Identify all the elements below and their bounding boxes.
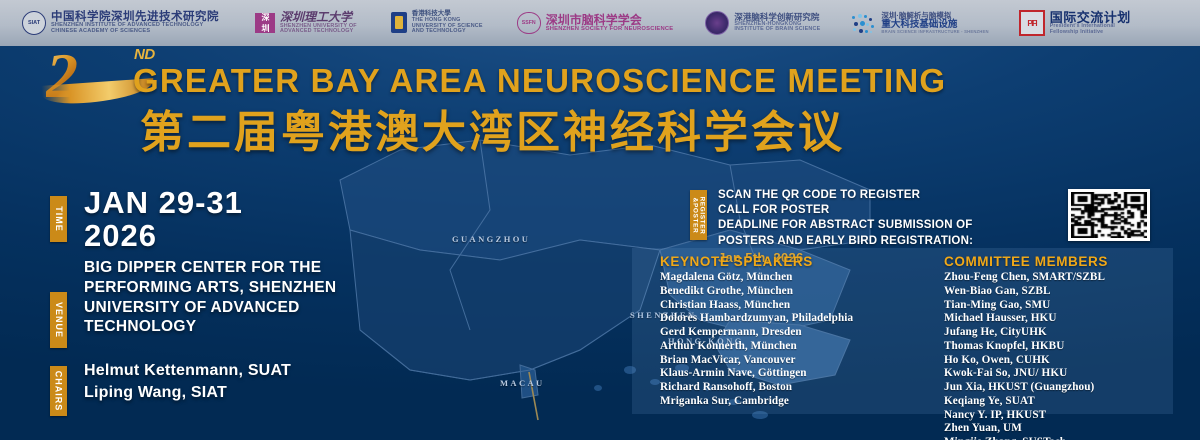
logo-en-name: SHENZHEN-HONGKONG INSTITUTE OF BRAIN SCI…: [734, 22, 820, 33]
committee-item: Tian-Ming Gao, SMU: [944, 299, 1108, 313]
committee-members-list: Zhou-Feng Chen, SMART/SZBLWen-Biao Gan, …: [944, 271, 1108, 440]
page-title-cn: 第二届粤港澳大湾区神经科学会议: [140, 96, 845, 160]
committee-item: Mingjie Zhang, SUSTech: [944, 436, 1108, 440]
square-seal-icon: 深圳: [255, 13, 275, 33]
conference-poster: SIAT 中国科学院深圳先进技术研究院 SHENZHEN INSTITUTE O…: [0, 0, 1200, 440]
venue-tab: VENUE: [50, 292, 67, 348]
speaker-item: Brian MacVicar, Vancouver: [660, 354, 853, 368]
logo-suat: 深圳 深圳理工大学 SHENZHEN UNIVERSITY OF ADVANCE…: [255, 11, 357, 35]
ordinal-suffix: ND: [134, 46, 155, 63]
event-venue: BIG DIPPER CENTER FOR THE PERFORMING ART…: [84, 258, 464, 337]
speaker-item: Benedikt Grothe, München: [660, 285, 853, 299]
keynote-speakers-section: KEYNOTE SPEAKERS Magdalena Götz, München…: [660, 254, 853, 409]
speaker-item: Christian Haass, München: [660, 299, 853, 313]
logo-en-name: SHENZHEN UNIVERSITY OF ADVANCED TECHNOLO…: [280, 24, 357, 35]
speaker-item: Arthur Konnerth, München: [660, 340, 853, 354]
chairs-tab-label: CHAIRS: [54, 371, 64, 412]
dot-cluster-icon: [850, 12, 876, 34]
logo-cn-name: 国际交流计划: [1050, 11, 1131, 25]
committee-item: Keqiang Ye, SUAT: [944, 395, 1108, 409]
committee-item: Ho Ko, Owen, CUHK: [944, 354, 1108, 368]
logo-en-name: SHENZHEN INSTITUTE OF ADVANCED TECHNOLOG…: [51, 23, 219, 35]
logo-hkust: 香港科技大學 THE HONG KONG UNIVERSITY OF SCIEN…: [391, 11, 483, 35]
time-tab-label: TIME: [54, 206, 64, 232]
page-title-en: GREATER BAY AREA NEUROSCIENCE MEETING: [133, 62, 946, 100]
circular-seal-icon: SIAT: [22, 11, 46, 35]
committee-item: Kwok-Fai So, JNU/ HKU: [944, 367, 1108, 381]
brain-circle-icon: [705, 11, 729, 35]
pifi-box-icon: PIFI: [1019, 10, 1045, 36]
speaker-item: Mriganka Sur, Cambridge: [660, 395, 853, 409]
speaker-item: Dolores Hambardzumyan, Philadelphia: [660, 312, 853, 326]
logo-cn-name: 深圳市脑科学学会: [546, 14, 674, 27]
event-chairs: Helmut Kettenmann, SUAT Liping Wang, SIA…: [84, 360, 291, 403]
register-tab-line2: &POSTER: [691, 196, 698, 234]
committee-item: Jufang He, CityUHK: [944, 326, 1108, 340]
keynote-speakers-heading: KEYNOTE SPEAKERS: [660, 254, 853, 269]
committee-members-heading: COMMITTEE MEMBERS: [944, 254, 1108, 269]
logo-en-name: President's International Fellowship Ini…: [1050, 24, 1131, 35]
speaker-item: Magdalena Götz, München: [660, 271, 853, 285]
venue-tab-label: VENUE: [54, 302, 64, 338]
committee-item: Nancy Y. IP, HKUST: [944, 409, 1108, 423]
logo-sibs: 深港脑科学创新研究院 SHENZHEN-HONGKONG INSTITUTE O…: [705, 11, 820, 35]
logo-cn-name: 深圳理工大学: [280, 11, 357, 24]
speaker-item: Richard Ransohoff, Boston: [660, 381, 853, 395]
committee-item: Zhen Yuan, UM: [944, 422, 1108, 436]
speaker-item: Klaus-Armin Nave, Göttingen: [660, 367, 853, 381]
committee-members-section: COMMITTEE MEMBERS Zhou-Feng Chen, SMART/…: [944, 254, 1108, 440]
registration-lines: SCAN THE QR CODE TO REGISTER CALL FOR PO…: [718, 188, 973, 249]
brain-outline-icon: SSFN: [517, 12, 541, 34]
committee-item: Michael Hausser, HKU: [944, 312, 1108, 326]
event-date: JAN 29-31 2026: [84, 186, 243, 253]
register-poster-tab: REGISTER &POSTER: [690, 190, 707, 240]
logo-siat-cas: SIAT 中国科学院深圳先进技术研究院 SHENZHEN INSTITUTE O…: [22, 11, 219, 35]
committee-item: Zhou-Feng Chen, SMART/SZBL: [944, 271, 1108, 285]
logo-ssfn: SSFN 深圳市脑科学学会 SHENZHEN SOCIETY FOR NEURO…: [517, 12, 674, 34]
logo-pifi: PIFI 国际交流计划 President's International Fe…: [1019, 10, 1131, 36]
register-tab-line1: REGISTER: [699, 196, 706, 234]
logo-brain-infrastructure: 深圳·脑解析与脑模拟 重大科技基础设施 BRAIN SCIENCE INFRAS…: [850, 12, 988, 34]
logo-en-name: THE HONG KONG UNIVERSITY OF SCIENCE AND …: [412, 18, 483, 35]
logo-en-name: SHENZHEN SOCIETY FOR NEUROSCIENCE: [546, 26, 674, 32]
map-label: MACAU: [500, 378, 545, 388]
time-tab: TIME: [50, 196, 67, 242]
speaker-item: Gerd Kempermann, Dresden: [660, 326, 853, 340]
map-label: GUANGZHOU: [452, 234, 530, 244]
sponsor-logo-bar: SIAT 中国科学院深圳先进技术研究院 SHENZHEN INSTITUTE O…: [0, 0, 1200, 46]
logo-en-name: BRAIN SCIENCE INFRASTRUCTURE - SHENZHEN: [881, 30, 988, 34]
shield-icon: [391, 12, 407, 33]
committee-item: Thomas Knopfel, HKBU: [944, 340, 1108, 354]
committee-item: Wen-Biao Gan, SZBL: [944, 285, 1108, 299]
chairs-tab: CHAIRS: [50, 366, 67, 416]
keynote-speakers-list: Magdalena Götz, MünchenBenedikt Grothe, …: [660, 271, 853, 409]
qr-code[interactable]: [1068, 189, 1150, 241]
committee-item: Jun Xia, HKUST (Guangzhou): [944, 381, 1108, 395]
